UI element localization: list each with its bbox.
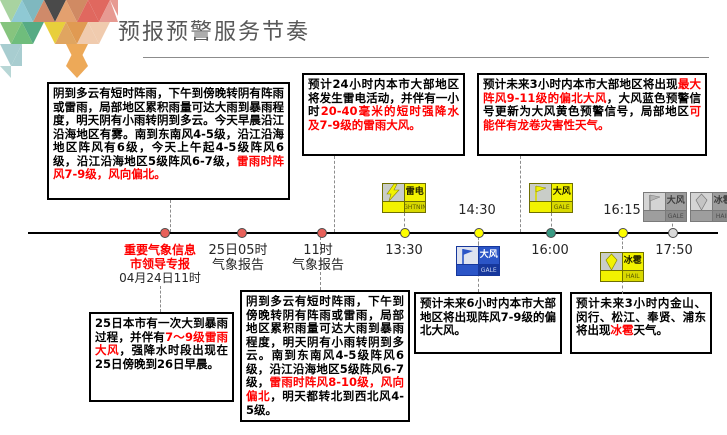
warning-en-label: LIGHTNING — [405, 202, 426, 212]
timeline-dot-1600[interactable] — [546, 228, 556, 238]
callout-segment: 天气。 — [634, 323, 669, 337]
warning-cn-label: 大风 — [666, 193, 687, 210]
leader-line — [622, 237, 623, 249]
wind-flag-icon — [644, 193, 665, 210]
timeline-dot-0500[interactable] — [237, 228, 247, 238]
lightning-icon — [383, 184, 404, 201]
callout-forecast-morning: 阴到多云有短时阵雨，下午到傍晚转阴有阵雨或雷雨，局部地区累积雨量可达大雨到暴雨程… — [47, 82, 290, 200]
warning-cn-label: 雷电 — [405, 184, 426, 201]
wind-flag-icon — [457, 247, 478, 264]
warning-en-label: GALE — [666, 211, 687, 221]
leader-line — [520, 156, 521, 232]
warning-level-chip — [457, 265, 478, 275]
callout-hail-3h: 预计未来3小时内金山、闵行、松江、奉贤、浦东将出现冰雹天气。 — [570, 292, 712, 354]
timeline-dot-1615[interactable] — [618, 228, 628, 238]
warning-cn-label: 冰雹 — [713, 193, 727, 210]
callout-segment: 预计未来6小时内本市大部地区将出现阵风7-9级的偏北大风。 — [420, 296, 556, 337]
warning-level-chip — [691, 211, 712, 221]
warning-en-label: GALE — [552, 202, 573, 212]
warning-icon-hail-grey[interactable]: 冰雹 HAIL — [690, 192, 727, 222]
warning-cn-label: 大风 — [552, 184, 573, 201]
timeline-dot-1750[interactable] — [668, 228, 678, 238]
timeline-dot-1330[interactable] — [400, 228, 410, 238]
callout-gale-6h: 预计未来6小时内本市大部地区将出现阵风7-9级的偏北大风。 — [414, 292, 562, 354]
tick-label-1100: 11时 气象报告 — [278, 243, 358, 274]
warning-icon-hail-yellow[interactable]: 冰雹 HAIL — [600, 252, 644, 282]
wind-flag-icon — [530, 184, 551, 201]
timeline-dot-special-report[interactable] — [160, 228, 170, 238]
warning-icon-gale-yellow[interactable]: 大风 GALE — [529, 183, 573, 213]
timeline-dot-1430[interactable] — [474, 228, 484, 238]
callout-segment: 预计未来3小时内本市大部地区将出现 — [483, 77, 678, 91]
tick-label-1600: 16:00 — [516, 243, 584, 258]
tick-label-1430: 14:30 — [443, 203, 511, 218]
callout-heavy-rain-process: 25日本市有一次大到暴雨过程，并伴有7～9级雷雨大风，强降水时段出现在25日傍晚… — [89, 312, 234, 402]
tick-label-0500: 25日05时 气象报告 — [198, 243, 278, 274]
leader-line — [170, 200, 171, 232]
timeline-dot-1100[interactable] — [317, 228, 327, 238]
hail-icon — [691, 193, 712, 210]
warning-en-label: HAIL — [713, 211, 727, 221]
warning-level-chip — [530, 202, 551, 212]
hail-icon — [601, 253, 622, 270]
leader-line — [622, 280, 623, 294]
warning-icon-gale-blue[interactable]: 大风 GALE — [456, 246, 500, 276]
tick-label-1330: 13:30 — [370, 243, 438, 258]
warning-icon-gale-grey[interactable]: 大风 GALE — [643, 192, 687, 222]
warning-cn-label: 大风 — [479, 247, 500, 264]
callout-segment: 20-40毫米的短时强降水及7-9级的雷雨大风。 — [308, 104, 459, 132]
timeline-axis — [28, 232, 718, 234]
leader-line — [334, 156, 335, 232]
warning-en-label: GALE — [479, 265, 500, 275]
warning-level-chip — [383, 202, 404, 212]
title-divider — [143, 57, 709, 58]
slide-canvas: 预报预警服务节奏 阴到多云有短时阵雨，下午到傍晚转阴有阵雨或雷雨，局部地区累积雨… — [0, 0, 727, 435]
callout-segment: ，明天都转北到西北风4-5级。 — [246, 389, 404, 417]
warning-icon-thunder-yellow[interactable]: 雷电 LIGHTNING — [382, 183, 426, 213]
warning-level-chip — [601, 271, 622, 281]
page-title: 预报预警服务节奏 — [118, 14, 310, 46]
callout-thunderstorm-24h: 预计24小时内本市大部地区将发生雷电活动，并伴有一小时20-40毫米的短时强降水… — [302, 73, 465, 156]
triangle-mosaic-logo — [0, 0, 118, 78]
callout-forecast-afternoon: 阴到多云有短时阵雨，下午到傍晚转阴有阵雨或雷雨，局部地区累积雨量可达大雨到暴雨程… — [240, 290, 410, 422]
leader-line — [160, 286, 161, 312]
warning-cn-label: 冰雹 — [623, 253, 644, 270]
callout-segment: 冰雹 — [611, 323, 634, 337]
warning-en-label: HAIL — [623, 271, 644, 281]
warning-level-chip — [644, 211, 665, 221]
tick-label-1750: 17:50 — [640, 243, 708, 258]
callout-gale-3h-upgrade: 预计未来3小时内本市大部地区将出现最大阵风9-11级的偏北大风，大风蓝色预警信号… — [477, 73, 707, 156]
